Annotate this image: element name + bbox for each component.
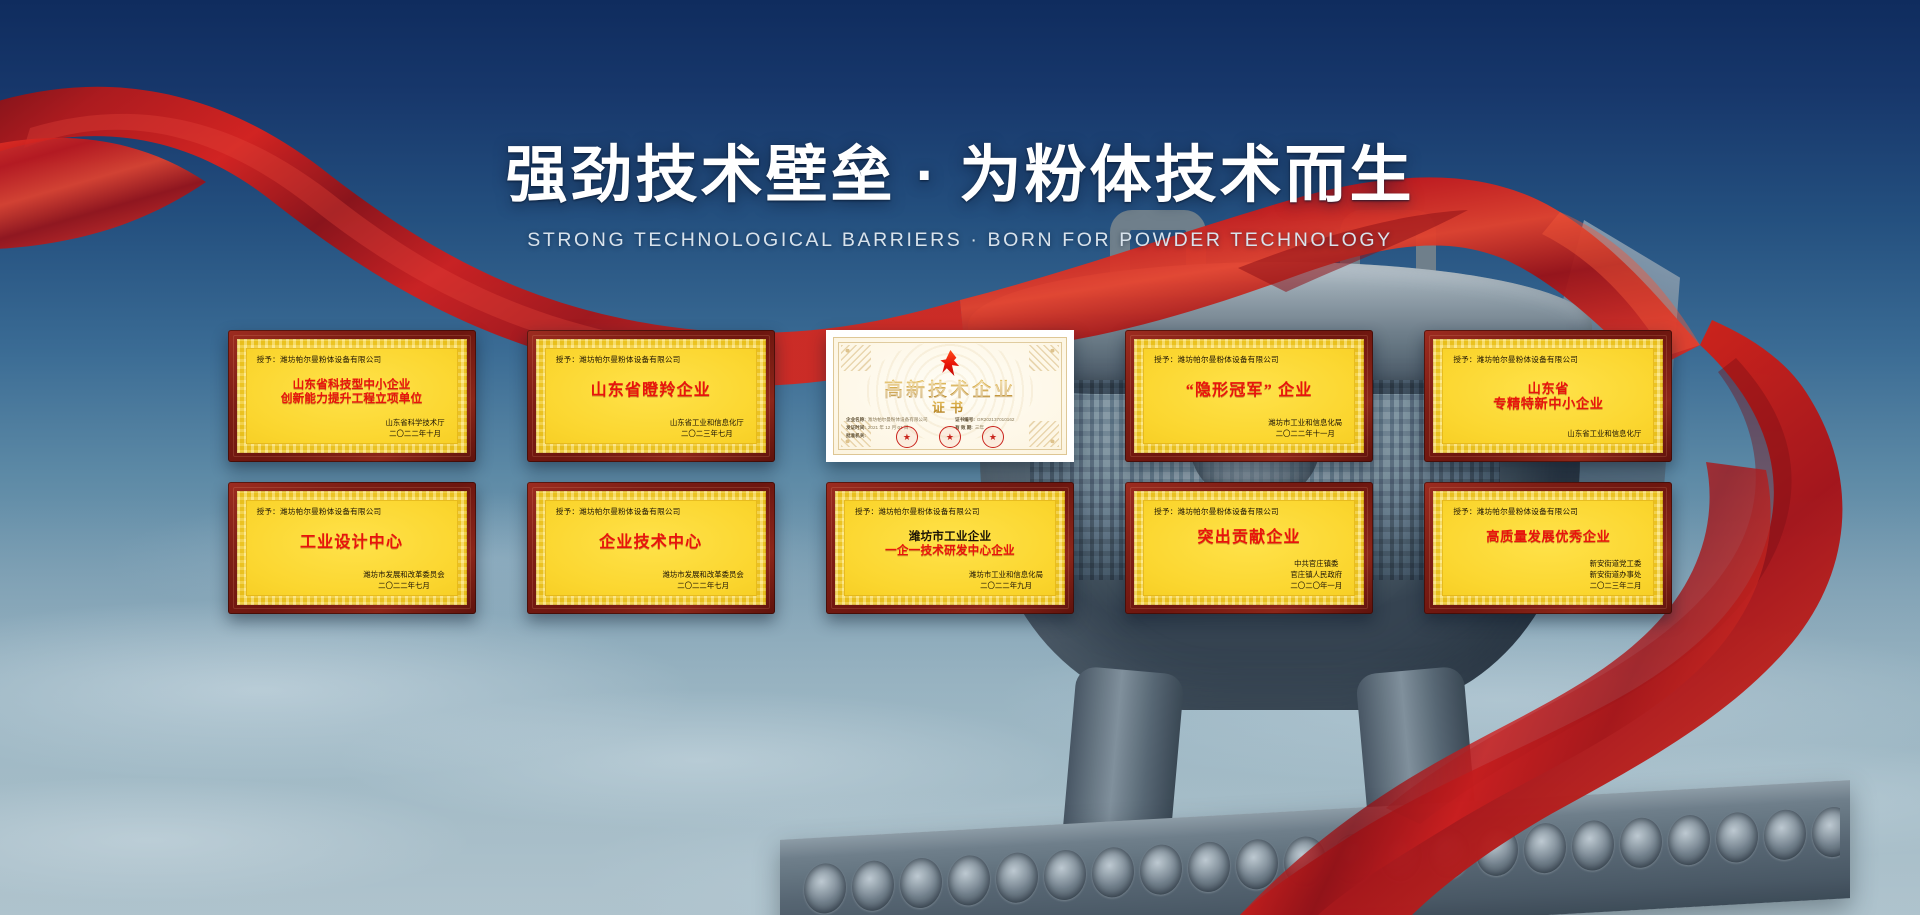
award-cell: 授予：潍坊帕尔曼粉体设备有限公司山东省科技型中小企业创新能力提升工程立项单位山东…	[202, 330, 501, 462]
plaque-issuer-line: 潍坊市工业和信息化局	[1268, 417, 1342, 428]
award-cell: 授予：潍坊帕尔曼粉体设备有限公司山东省瞪羚企业山东省工业和信息化厅二〇二三年七月	[501, 330, 800, 462]
plaque-grantee-line: 授予：潍坊帕尔曼粉体设备有限公司	[1154, 354, 1344, 365]
plaque-satin-face: 授予：潍坊帕尔曼粉体设备有限公司山东省瞪羚企业山东省工业和信息化厅二〇二三年七月	[536, 339, 766, 453]
certificate-face: 高新技术企业证书企业名称:潍坊帕尔曼粉体设备有限公司证书编号:GR2021370…	[833, 337, 1067, 455]
award-cell: 授予：潍坊帕尔曼粉体设备有限公司工业设计中心潍坊市发展和改革委员会二〇二二年七月	[202, 482, 501, 614]
award-cell: 授予：潍坊帕尔曼粉体设备有限公司山东省专精特新中小企业山东省工业和信息化厅	[1399, 330, 1698, 462]
plaque-title-block: “隐形冠军” 企业	[1154, 366, 1344, 417]
plaque-title-block: 工业设计中心	[257, 518, 447, 569]
plaque-issuer-line: 二〇二二年十月	[385, 428, 444, 439]
award-plaque[interactable]: 授予：潍坊帕尔曼粉体设备有限公司潍坊市工业企业一企一技术研发中心企业潍坊市工业和…	[826, 482, 1074, 614]
plaque-content: 授予：潍坊帕尔曼粉体设备有限公司工业设计中心潍坊市发展和改革委员会二〇二二年七月	[246, 500, 458, 596]
plaque-satin-face: 授予：潍坊帕尔曼粉体设备有限公司企业技术中心潍坊市发展和改革委员会二〇二二年七月	[536, 491, 766, 605]
plaque-grantee-line: 授予：潍坊帕尔曼粉体设备有限公司	[556, 354, 746, 365]
certificate-field-value: GR202137010162	[977, 417, 1015, 424]
plaque-title-block: 突出贡献企业	[1154, 518, 1344, 558]
plaque-issuer-line: 官庄镇人民政府	[1290, 569, 1342, 580]
award-plaque[interactable]: 授予：潍坊帕尔曼粉体设备有限公司山东省瞪羚企业山东省工业和信息化厅二〇二三年七月	[527, 330, 775, 462]
plaque-satin-face: 授予：潍坊帕尔曼粉体设备有限公司“隐形冠军” 企业潍坊市工业和信息化局二〇二二年…	[1134, 339, 1364, 453]
award-row-1: 授予：潍坊帕尔曼粉体设备有限公司山东省科技型中小企业创新能力提升工程立项单位山东…	[202, 330, 1698, 462]
plaque-issuer-line: 二〇二二年十一月	[1268, 428, 1342, 439]
plaque-grantee-line: 授予：潍坊帕尔曼粉体设备有限公司	[1453, 354, 1643, 365]
plaque-satin-face: 授予：潍坊帕尔曼粉体设备有限公司工业设计中心潍坊市发展和改革委员会二〇二二年七月	[237, 491, 467, 605]
plaque-title-line: 潍坊市工业企业	[909, 530, 992, 543]
plaque-title-line: 企业技术中心	[599, 534, 702, 552]
plaque-content: 授予：潍坊帕尔曼粉体设备有限公司“隐形冠军” 企业潍坊市工业和信息化局二〇二二年…	[1143, 348, 1355, 444]
plaque-title-line: 一企一技术研发中心企业	[885, 544, 1015, 557]
award-cell: 授予：潍坊帕尔曼粉体设备有限公司潍坊市工业企业一企一技术研发中心企业潍坊市工业和…	[800, 482, 1099, 614]
plaque-issuer-line: 二〇二三年二月	[1590, 580, 1642, 591]
official-seal-icon	[939, 426, 961, 448]
plaque-title-block: 潍坊市工业企业一企一技术研发中心企业	[855, 518, 1045, 569]
plaque-issuer-line: 山东省工业和信息化厅	[670, 417, 744, 428]
plaque-title-block: 山东省专精特新中小企业	[1453, 366, 1643, 428]
plaque-grantee-line: 授予：潍坊帕尔曼粉体设备有限公司	[257, 354, 447, 365]
plaque-issuer-line: 二〇二二年九月	[969, 580, 1043, 591]
plaque-content: 授予：潍坊帕尔曼粉体设备有限公司山东省专精特新中小企业山东省工业和信息化厅	[1442, 348, 1654, 444]
plaque-content: 授予：潍坊帕尔曼粉体设备有限公司潍坊市工业企业一企一技术研发中心企业潍坊市工业和…	[844, 500, 1056, 596]
plaque-issuer-line: 潍坊市工业和信息化局	[969, 569, 1043, 580]
hero-banner: 强劲技术壁垒 · 为粉体技术而生 STRONG TECHNOLOGICAL BA…	[0, 0, 1920, 915]
award-plaque[interactable]: 授予：潍坊帕尔曼粉体设备有限公司突出贡献企业中共官庄镇委官庄镇人民政府二〇二〇年…	[1125, 482, 1373, 614]
official-seal-icon	[982, 426, 1004, 448]
plaque-issuer-block: 潍坊市发展和改革委员会二〇二二年七月	[363, 569, 446, 591]
certificate-seal-group	[833, 426, 1067, 448]
certificate-corner-ornament-icon	[841, 345, 871, 371]
plaque-title-line: 山东省	[1528, 382, 1569, 397]
certificate-field: 证书编号:GR202137010162	[955, 417, 1054, 424]
plaque-satin-face: 授予：潍坊帕尔曼粉体设备有限公司突出贡献企业中共官庄镇委官庄镇人民政府二〇二〇年…	[1134, 491, 1364, 605]
plaque-issuer-block: 新安街道党工委新安街道办事处二〇二三年二月	[1590, 558, 1644, 591]
plaque-title-line: 工业设计中心	[300, 534, 403, 552]
award-cell: 授予：潍坊帕尔曼粉体设备有限公司企业技术中心潍坊市发展和改革委员会二〇二二年七月	[501, 482, 800, 614]
plaque-grantee-line: 授予：潍坊帕尔曼粉体设备有限公司	[257, 506, 447, 517]
plaque-issuer-line: 潍坊市发展和改革委员会	[363, 569, 444, 580]
certificate-corner-ornament-icon	[1029, 345, 1059, 371]
award-plaque[interactable]: 授予：潍坊帕尔曼粉体设备有限公司企业技术中心潍坊市发展和改革委员会二〇二二年七月	[527, 482, 775, 614]
plaque-issuer-line: 山东省工业和信息化厅	[1567, 428, 1641, 439]
plaque-issuer-line: 中共官庄镇委	[1290, 558, 1342, 569]
plaque-title-line: 高质量发展优秀企业	[1486, 530, 1610, 545]
plaque-title-line: 山东省瞪羚企业	[591, 382, 711, 400]
plaque-title-block: 山东省科技型中小企业创新能力提升工程立项单位	[257, 366, 447, 417]
plaque-content: 授予：潍坊帕尔曼粉体设备有限公司突出贡献企业中共官庄镇委官庄镇人民政府二〇二〇年…	[1143, 500, 1355, 596]
plaque-issuer-line: 山东省科学技术厅	[385, 417, 444, 428]
certificate-field-value: 潍坊帕尔曼粉体设备有限公司	[868, 417, 928, 424]
award-cell: 授予：潍坊帕尔曼粉体设备有限公司高质量发展优秀企业新安街道党工委新安街道办事处二…	[1399, 482, 1698, 614]
plaque-satin-face: 授予：潍坊帕尔曼粉体设备有限公司山东省科技型中小企业创新能力提升工程立项单位山东…	[237, 339, 467, 453]
plaque-issuer-line: 二〇二二年七月	[363, 580, 444, 591]
headline-block: 强劲技术壁垒 · 为粉体技术而生 STRONG TECHNOLOGICAL BA…	[0, 140, 1920, 252]
official-seal-icon	[896, 426, 918, 448]
plaque-grantee-line: 授予：潍坊帕尔曼粉体设备有限公司	[855, 506, 1045, 517]
plaque-title-line: 专精特新中小企业	[1493, 397, 1603, 412]
plaque-title-line: 创新能力提升工程立项单位	[281, 392, 423, 405]
plaque-grantee-line: 授予：潍坊帕尔曼粉体设备有限公司	[556, 506, 746, 517]
plaque-title-line: 突出贡献企业	[1198, 529, 1301, 547]
plaque-issuer-block: 潍坊市工业和信息化局二〇二二年十一月	[1268, 417, 1344, 439]
award-cell: 高新技术企业证书企业名称:潍坊帕尔曼粉体设备有限公司证书编号:GR2021370…	[800, 330, 1099, 462]
plaque-satin-face: 授予：潍坊帕尔曼粉体设备有限公司高质量发展优秀企业新安街道党工委新安街道办事处二…	[1433, 491, 1663, 605]
award-gallery: 授予：潍坊帕尔曼粉体设备有限公司山东省科技型中小企业创新能力提升工程立项单位山东…	[202, 330, 1698, 614]
page-subtitle: STRONG TECHNOLOGICAL BARRIERS · BORN FOR…	[0, 229, 1920, 252]
plaque-issuer-block: 山东省科学技术厅二〇二二年十月	[385, 417, 446, 439]
high-tech-enterprise-certificate[interactable]: 高新技术企业证书企业名称:潍坊帕尔曼粉体设备有限公司证书编号:GR2021370…	[826, 330, 1074, 462]
plaque-content: 授予：潍坊帕尔曼粉体设备有限公司企业技术中心潍坊市发展和改革委员会二〇二二年七月	[545, 500, 757, 596]
plaque-issuer-line: 新安街道办事处	[1590, 569, 1642, 580]
plaque-issuer-block: 山东省工业和信息化厅二〇二三年七月	[670, 417, 746, 439]
plaque-title-block: 山东省瞪羚企业	[556, 366, 746, 417]
plaque-title-line: 山东省科技型中小企业	[293, 378, 411, 391]
award-cell: 授予：潍坊帕尔曼粉体设备有限公司突出贡献企业中共官庄镇委官庄镇人民政府二〇二〇年…	[1100, 482, 1399, 614]
award-plaque[interactable]: 授予：潍坊帕尔曼粉体设备有限公司山东省科技型中小企业创新能力提升工程立项单位山东…	[228, 330, 476, 462]
plaque-issuer-line: 潍坊市发展和改革委员会	[662, 569, 743, 580]
certificate-subtitle: 证书	[833, 397, 1067, 416]
award-cell: 授予：潍坊帕尔曼粉体设备有限公司“隐形冠军” 企业潍坊市工业和信息化局二〇二二年…	[1100, 330, 1399, 462]
award-plaque[interactable]: 授予：潍坊帕尔曼粉体设备有限公司工业设计中心潍坊市发展和改革委员会二〇二二年七月	[228, 482, 476, 614]
plaque-content: 授予：潍坊帕尔曼粉体设备有限公司山东省瞪羚企业山东省工业和信息化厅二〇二三年七月	[545, 348, 757, 444]
award-plaque[interactable]: 授予：潍坊帕尔曼粉体设备有限公司高质量发展优秀企业新安街道党工委新安街道办事处二…	[1424, 482, 1672, 614]
certificate-field-label: 企业名称:	[846, 417, 866, 424]
certificate-field-label: 证书编号:	[955, 417, 975, 424]
plaque-grantee-line: 授予：潍坊帕尔曼粉体设备有限公司	[1453, 506, 1643, 517]
plaque-title-block: 企业技术中心	[556, 518, 746, 569]
plaque-issuer-block: 中共官庄镇委官庄镇人民政府二〇二〇年一月	[1290, 558, 1344, 591]
plaque-issuer-line: 二〇二〇年一月	[1290, 580, 1342, 591]
plaque-issuer-line: 二〇二二年七月	[662, 580, 743, 591]
plaque-issuer-block: 潍坊市发展和改革委员会二〇二二年七月	[662, 569, 745, 591]
plaque-title-line: “隐形冠军” 企业	[1186, 382, 1313, 400]
plaque-title-block: 高质量发展优秀企业	[1453, 518, 1643, 558]
plaque-content: 授予：潍坊帕尔曼粉体设备有限公司山东省科技型中小企业创新能力提升工程立项单位山东…	[246, 348, 458, 444]
award-plaque[interactable]: 授予：潍坊帕尔曼粉体设备有限公司“隐形冠军” 企业潍坊市工业和信息化局二〇二二年…	[1125, 330, 1373, 462]
plaque-satin-face: 授予：潍坊帕尔曼粉体设备有限公司潍坊市工业企业一企一技术研发中心企业潍坊市工业和…	[835, 491, 1065, 605]
plaque-issuer-line: 新安街道党工委	[1590, 558, 1642, 569]
certificate-field: 企业名称:潍坊帕尔曼粉体设备有限公司	[846, 417, 945, 424]
plaque-satin-face: 授予：潍坊帕尔曼粉体设备有限公司山东省专精特新中小企业山东省工业和信息化厅	[1433, 339, 1663, 453]
award-row-2: 授予：潍坊帕尔曼粉体设备有限公司工业设计中心潍坊市发展和改革委员会二〇二二年七月…	[202, 482, 1698, 614]
plaque-issuer-block: 山东省工业和信息化厅	[1567, 428, 1643, 439]
plaque-grantee-line: 授予：潍坊帕尔曼粉体设备有限公司	[1154, 506, 1344, 517]
plaque-issuer-block: 潍坊市工业和信息化局二〇二二年九月	[969, 569, 1045, 591]
plaque-content: 授予：潍坊帕尔曼粉体设备有限公司高质量发展优秀企业新安街道党工委新安街道办事处二…	[1442, 500, 1654, 596]
award-plaque[interactable]: 授予：潍坊帕尔曼粉体设备有限公司山东省专精特新中小企业山东省工业和信息化厅	[1424, 330, 1672, 462]
plaque-issuer-line: 二〇二三年七月	[670, 428, 744, 439]
page-title: 强劲技术壁垒 · 为粉体技术而生	[0, 140, 1920, 211]
